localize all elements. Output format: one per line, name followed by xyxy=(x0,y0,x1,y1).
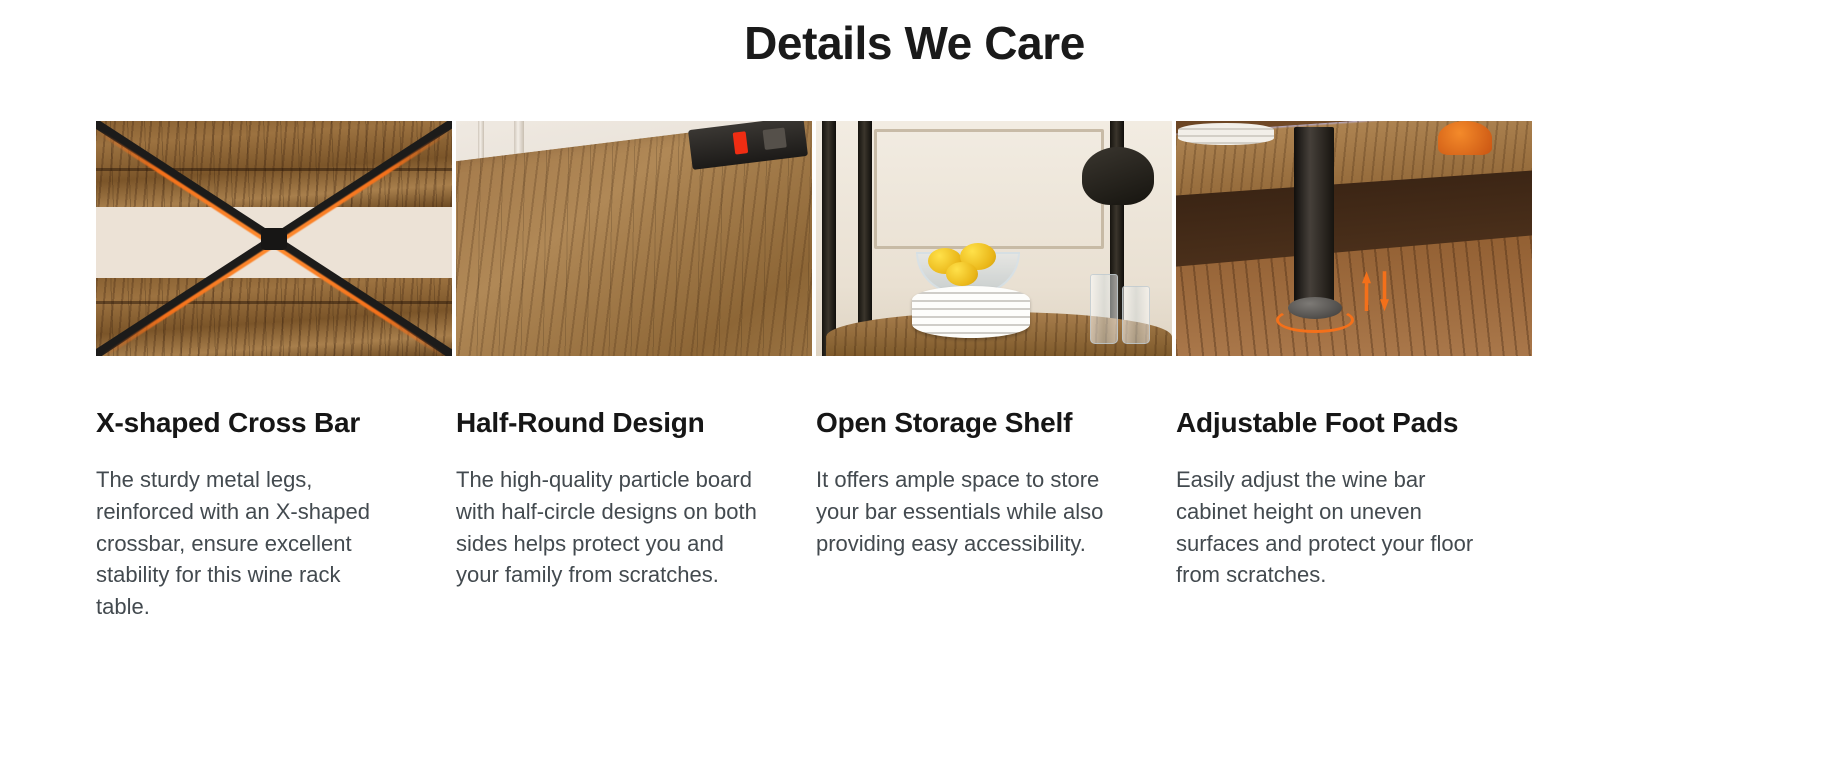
orange-decor-object xyxy=(1438,121,1492,155)
adjustable-foot-pads-photo xyxy=(1176,121,1532,356)
feature-title: Open Storage Shelf xyxy=(816,406,1176,440)
open-storage-shelf-photo xyxy=(816,121,1172,356)
feature-title: Half-Round Design xyxy=(456,406,816,440)
rotation-arrow-icon xyxy=(1276,307,1354,333)
glass-tumbler-1 xyxy=(1090,274,1118,344)
feature-description: The high-quality particle board with hal… xyxy=(456,464,758,592)
feature-description: The sturdy metal legs, reinforced with a… xyxy=(96,464,398,623)
lemon-3 xyxy=(946,262,978,286)
feature-title: X-shaped Cross Bar xyxy=(96,406,456,440)
feature-title: Adjustable Foot Pads xyxy=(1176,406,1536,440)
crossbar-center-joint xyxy=(261,228,287,250)
page-title: Details We Care xyxy=(0,0,1829,71)
feature-card-x-shaped-cross-bar: X-shaped Cross Bar The sturdy metal legs… xyxy=(96,121,456,623)
details-we-care-section: Details We Care X-shaped Cross Bar The s… xyxy=(0,0,1829,771)
half-round-design-photo xyxy=(456,121,812,356)
feature-card-half-round-design: Half-Round Design The high-quality parti… xyxy=(456,121,816,623)
feature-card-open-storage-shelf: Open Storage Shelf It offers ample space… xyxy=(816,121,1176,623)
wall-moulding xyxy=(874,129,1104,249)
frame-post-left xyxy=(822,121,836,356)
stacked-plates xyxy=(912,286,1030,338)
feature-description: It offers ample space to store your bar … xyxy=(816,464,1118,560)
feature-grid: X-shaped Cross Bar The sturdy metal legs… xyxy=(0,121,1829,623)
feature-card-adjustable-foot-pads: Adjustable Foot Pads Easily adjust the w… xyxy=(1176,121,1536,623)
x-shaped-cross-bar-photo xyxy=(96,121,452,356)
cabinet-leg xyxy=(1294,127,1334,305)
glass-tumbler-2 xyxy=(1122,286,1150,344)
kettle xyxy=(1082,147,1154,205)
feature-description: Easily adjust the wine bar cabinet heigh… xyxy=(1176,464,1478,592)
stacked-plates xyxy=(1178,123,1274,145)
